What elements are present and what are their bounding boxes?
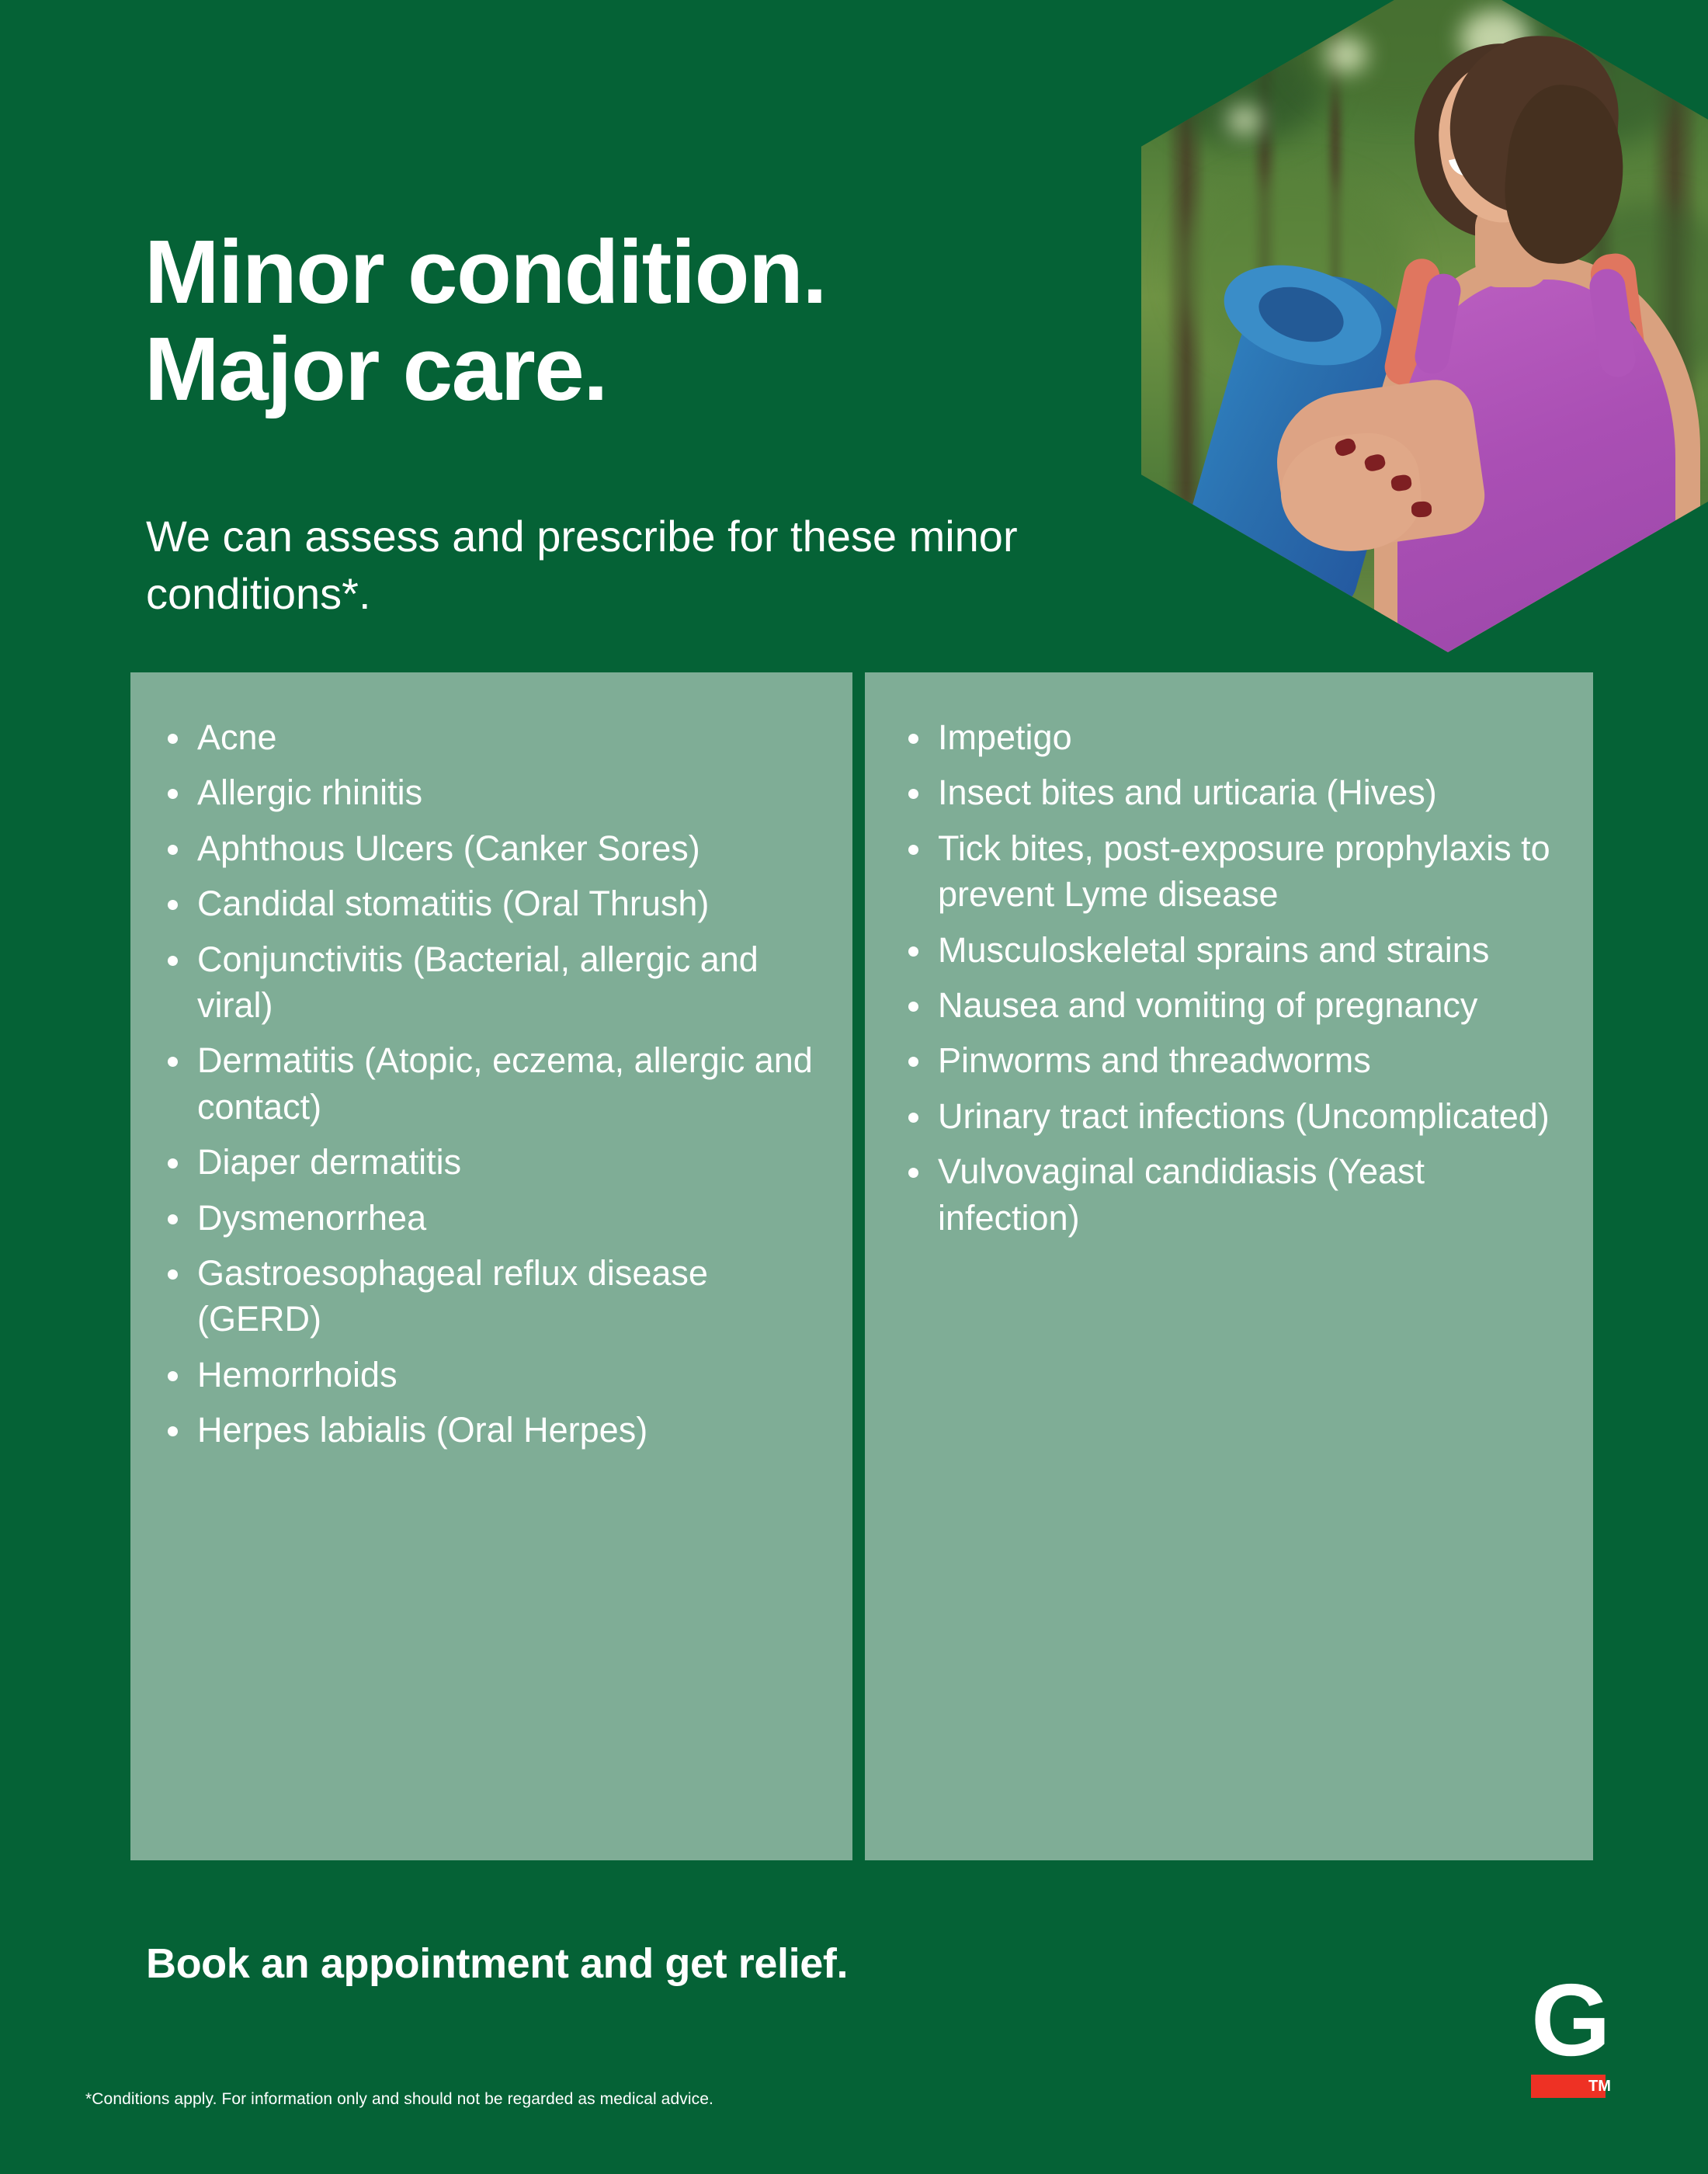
- headline-line-1: Minor condition.: [144, 221, 826, 322]
- condition-item: Candidal stomatitis (Oral Thrush): [161, 880, 821, 926]
- hero-hexagon-photo: [1141, 0, 1708, 652]
- logo-letter-g: G: [1531, 1978, 1668, 2065]
- condition-item: Impetigo: [902, 714, 1562, 760]
- condition-item: Allergic rhinitis: [161, 769, 821, 815]
- hero-person: [1141, 0, 1708, 652]
- footnote-text: *Conditions apply. For information only …: [85, 2090, 713, 2109]
- conditions-panels: AcneAllergic rhinitisAphthous Ulcers (Ca…: [130, 672, 1593, 1860]
- condition-item: Insect bites and urticaria (Hives): [902, 769, 1562, 815]
- conditions-panel-right: ImpetigoInsect bites and urticaria (Hive…: [865, 672, 1593, 1860]
- conditions-list-right: ImpetigoInsect bites and urticaria (Hive…: [902, 714, 1562, 1241]
- subheading: We can assess and prescribe for these mi…: [146, 508, 1070, 623]
- condition-item: Musculoskeletal sprains and strains: [902, 927, 1562, 973]
- condition-item: Aphthous Ulcers (Canker Sores): [161, 825, 821, 871]
- condition-item: Hemorrhoids: [161, 1352, 821, 1398]
- condition-item: Nausea and vomiting of pregnancy: [902, 982, 1562, 1028]
- condition-item: Tick bites, post-exposure prophylaxis to…: [902, 825, 1562, 918]
- page-title: Minor condition. Major care.: [144, 224, 1076, 418]
- hero-graphic: [1141, 0, 1708, 652]
- condition-item: Urinary tract infections (Uncomplicated): [902, 1093, 1562, 1139]
- condition-item: Conjunctivitis (Bacterial, allergic and …: [161, 936, 821, 1029]
- condition-item: Dermatitis (Atopic, eczema, allergic and…: [161, 1037, 821, 1130]
- conditions-list-left: AcneAllergic rhinitisAphthous Ulcers (Ca…: [161, 714, 821, 1453]
- conditions-panel-left: AcneAllergic rhinitisAphthous Ulcers (Ca…: [130, 672, 852, 1860]
- brand-logo: G TM: [1531, 1978, 1668, 2110]
- poster-canvas: Minor condition. Major care. We can asse…: [0, 0, 1708, 2174]
- condition-item: Herpes labialis (Oral Herpes): [161, 1407, 821, 1453]
- condition-item: Acne: [161, 714, 821, 760]
- condition-item: Gastroesophageal reflux disease (GERD): [161, 1250, 821, 1342]
- headline-line-2: Major care.: [144, 321, 1076, 418]
- logo-trademark: TM: [1588, 2076, 1611, 2096]
- condition-item: Pinworms and threadworms: [902, 1037, 1562, 1083]
- condition-item: Diaper dermatitis: [161, 1139, 821, 1185]
- cta-text: Book an appointment and get relief.: [146, 1940, 848, 1988]
- condition-item: Vulvovaginal candidiasis (Yeast infectio…: [902, 1148, 1562, 1241]
- condition-item: Dysmenorrhea: [161, 1195, 821, 1241]
